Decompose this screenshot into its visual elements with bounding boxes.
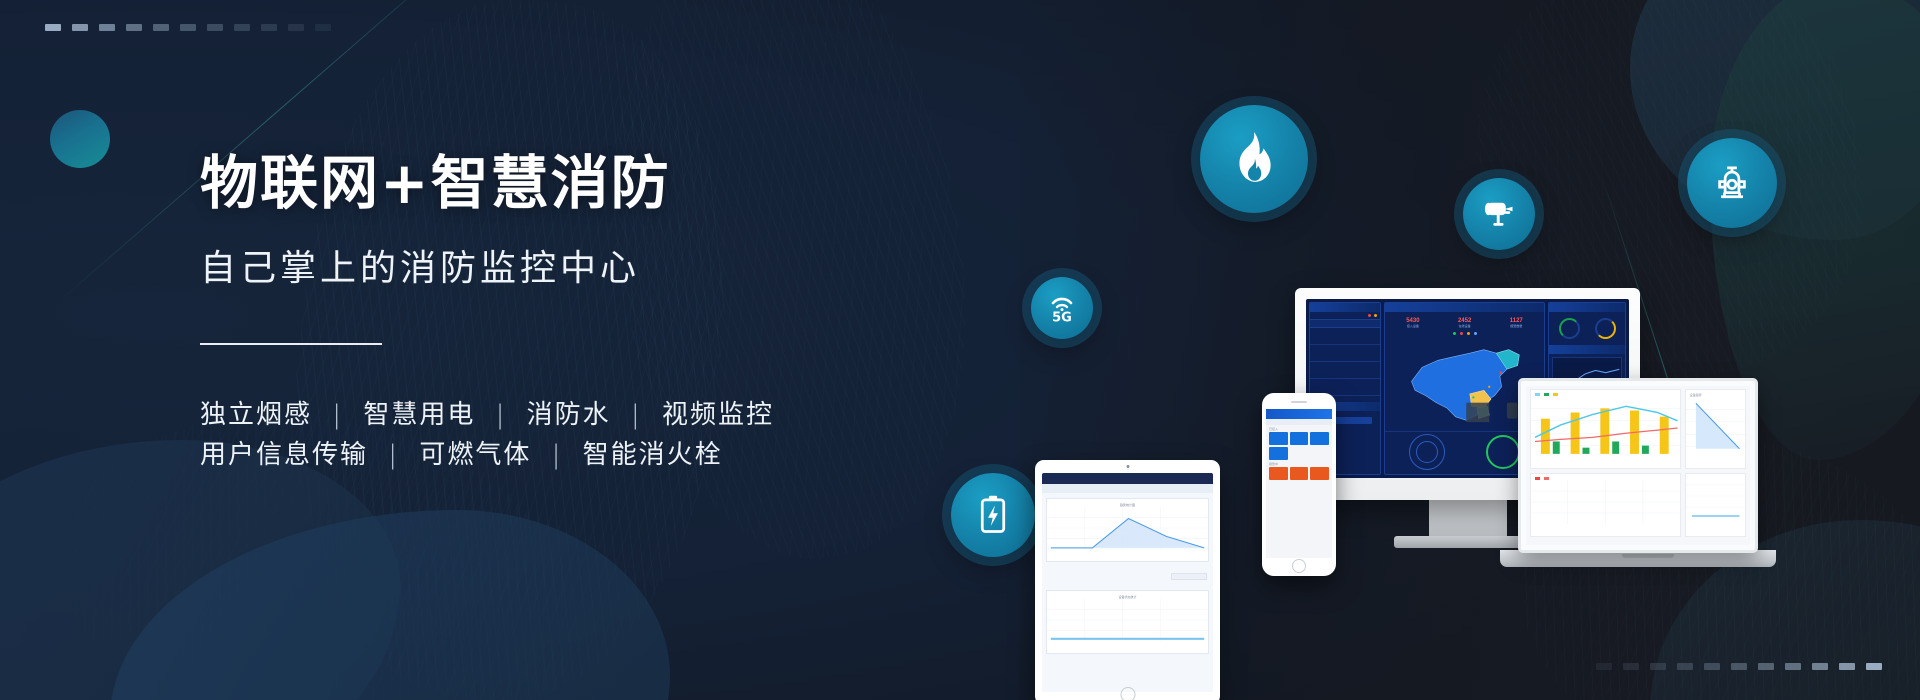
- gauge: [1595, 318, 1616, 339]
- feature-item: 可燃气体: [419, 440, 531, 470]
- dash: [1704, 663, 1720, 670]
- dash: [45, 24, 61, 31]
- camera-icon: [1463, 178, 1535, 250]
- feature-separator: |: [378, 440, 409, 470]
- panel-header: [1385, 303, 1544, 312]
- dash: [1731, 663, 1747, 670]
- kpi-label: 在线设备: [1458, 324, 1471, 328]
- radar-widget: [1409, 434, 1445, 470]
- tablet-home-button[interactable]: [1120, 687, 1135, 700]
- phone-tile[interactable]: [1269, 447, 1288, 460]
- circle-top-left: [50, 110, 110, 168]
- dash: [180, 24, 196, 31]
- phone-section-label: 已接入: [1266, 425, 1332, 432]
- phone-tile-alarm[interactable]: [1269, 467, 1288, 480]
- 5g-icon-glyph: 5G: [1045, 293, 1079, 323]
- phone-section-label-2: 报警中: [1266, 460, 1332, 467]
- phone-tile[interactable]: [1269, 432, 1288, 445]
- dash: [261, 24, 277, 31]
- blob-bottom-left-2: [110, 510, 670, 700]
- feature-separator: |: [542, 440, 573, 470]
- feature-item: 独立烟感: [200, 400, 312, 430]
- laptop-lid: 设备趋势: [1518, 378, 1758, 553]
- gauge: [1559, 318, 1580, 339]
- hero-banner: 物联网+智慧消防 自己掌上的消防监控中心 独立烟感 | 智慧用电 | 消防水 |…: [0, 0, 1920, 700]
- map-legend: [1385, 330, 1544, 337]
- feature-item: 用户信息传输: [200, 440, 368, 470]
- phone-tile[interactable]: [1310, 432, 1329, 445]
- dash: [72, 24, 88, 31]
- tablet-chart-card-2: 设备状态统计: [1046, 590, 1209, 654]
- tablet-screen: 趋势统计图 设备状态统计: [1042, 473, 1213, 692]
- laptop-bar-chart: [1530, 389, 1681, 469]
- svg-text:5G: 5G: [1052, 311, 1072, 326]
- dash: [207, 24, 223, 31]
- camera-icon-glyph: [1481, 198, 1517, 230]
- dash: [1839, 663, 1855, 670]
- phone-tile[interactable]: [1290, 432, 1309, 445]
- fire-icon-glyph: [1229, 132, 1279, 186]
- kpi-label: 接入设备: [1406, 324, 1419, 328]
- monitor-stand-neck: [1429, 498, 1507, 538]
- kpi-row: 5430接入设备 2452在线设备 1127报警数量: [1385, 312, 1544, 330]
- feature-item: 视频监控: [662, 400, 774, 430]
- ring-gauge-widget: [1486, 435, 1520, 469]
- hydrant-icon: [1687, 138, 1777, 228]
- dash: [153, 24, 169, 31]
- dash: [99, 24, 115, 31]
- dash: [315, 24, 331, 31]
- laptop-table-chart: [1530, 473, 1681, 537]
- dash: [1758, 663, 1774, 670]
- laptop-device: 设备趋势: [1518, 378, 1778, 578]
- phone-tile-grid-orange: [1266, 467, 1332, 480]
- decorative-dashes-bottom-right: [1596, 663, 1882, 670]
- phone-screen: 已接入 报警中: [1266, 409, 1332, 558]
- tablet-chart-title: 趋势统计图: [1047, 499, 1208, 507]
- gauge-row: [1549, 312, 1625, 345]
- page-subtitle: 自己掌上的消防监控中心: [200, 239, 920, 291]
- feature-separator: |: [621, 400, 652, 430]
- feature-row: 独立烟感 | 智慧用电 | 消防水 | 视频监控: [200, 395, 920, 435]
- battery-icon-glyph: [976, 493, 1010, 537]
- fire-icon: [1200, 105, 1308, 213]
- page-title: 物联网+智慧消防: [200, 150, 920, 217]
- decorative-dashes-top-left: [45, 24, 331, 31]
- hero-copy: 物联网+智慧消防 自己掌上的消防监控中心 独立烟感 | 智慧用电 | 消防水 |…: [200, 150, 920, 475]
- battery-icon: [951, 473, 1035, 557]
- laptop-chart-title: 设备趋势: [1686, 390, 1745, 397]
- tablet-subbar: [1042, 484, 1213, 493]
- phone-tile-alarm[interactable]: [1310, 467, 1329, 480]
- dash: [234, 24, 250, 31]
- dash: [1866, 663, 1882, 670]
- laptop-notch: [1622, 554, 1674, 558]
- tablet-chart-card: 趋势统计图: [1046, 498, 1209, 562]
- feature-list: 独立烟感 | 智慧用电 | 消防水 | 视频监控 用户信息传输 | 可燃气体 |…: [200, 395, 920, 476]
- phone-home-button[interactable]: [1292, 559, 1306, 573]
- phone-speaker: [1291, 401, 1307, 403]
- laptop-screen: 设备趋势: [1526, 386, 1750, 545]
- phone-tile-grid-blue: [1266, 432, 1332, 460]
- panel-header: [1549, 345, 1625, 354]
- phone-device: 已接入 报警中: [1262, 393, 1336, 576]
- tablet-camera-dot: [1126, 465, 1129, 468]
- divider-rule: [200, 343, 382, 345]
- feature-item: 智能消火栓: [583, 440, 723, 470]
- dash: [1623, 663, 1639, 670]
- panel-header: [1310, 303, 1380, 312]
- feature-item: 智慧用电: [363, 400, 475, 430]
- phone-header: [1266, 409, 1332, 419]
- laptop-flat-chart: [1685, 473, 1746, 537]
- dash: [288, 24, 304, 31]
- feature-separator: |: [322, 400, 353, 430]
- 5g-icon: 5G: [1031, 277, 1093, 339]
- dash: [1596, 663, 1612, 670]
- feature-separator: |: [486, 400, 517, 430]
- phone-tile-alarm[interactable]: [1290, 467, 1309, 480]
- tablet-chart-title-2: 设备状态统计: [1047, 591, 1208, 599]
- tablet-body: 趋势统计图 设备状态统计: [1035, 460, 1220, 700]
- kpi-label: 报警数量: [1510, 324, 1523, 328]
- tablet-topbar: [1042, 473, 1213, 484]
- device-mockup-cluster: 5430接入设备 2452在线设备 1127报警数量: [1120, 280, 1760, 600]
- feature-item: 消防水: [527, 400, 611, 430]
- dash: [126, 24, 142, 31]
- feature-row: 用户信息传输 | 可燃气体 | 智能消火栓: [200, 435, 920, 475]
- hydrant-icon-glyph: [1712, 161, 1752, 205]
- dash: [1812, 663, 1828, 670]
- panel-header: [1549, 303, 1625, 312]
- laptop-area-chart: 设备趋势: [1685, 389, 1746, 469]
- dash: [1677, 663, 1693, 670]
- blob-right-top: [1630, 0, 1920, 240]
- dash: [1650, 663, 1666, 670]
- blob-bottom-left: [0, 440, 400, 700]
- dash: [1785, 663, 1801, 670]
